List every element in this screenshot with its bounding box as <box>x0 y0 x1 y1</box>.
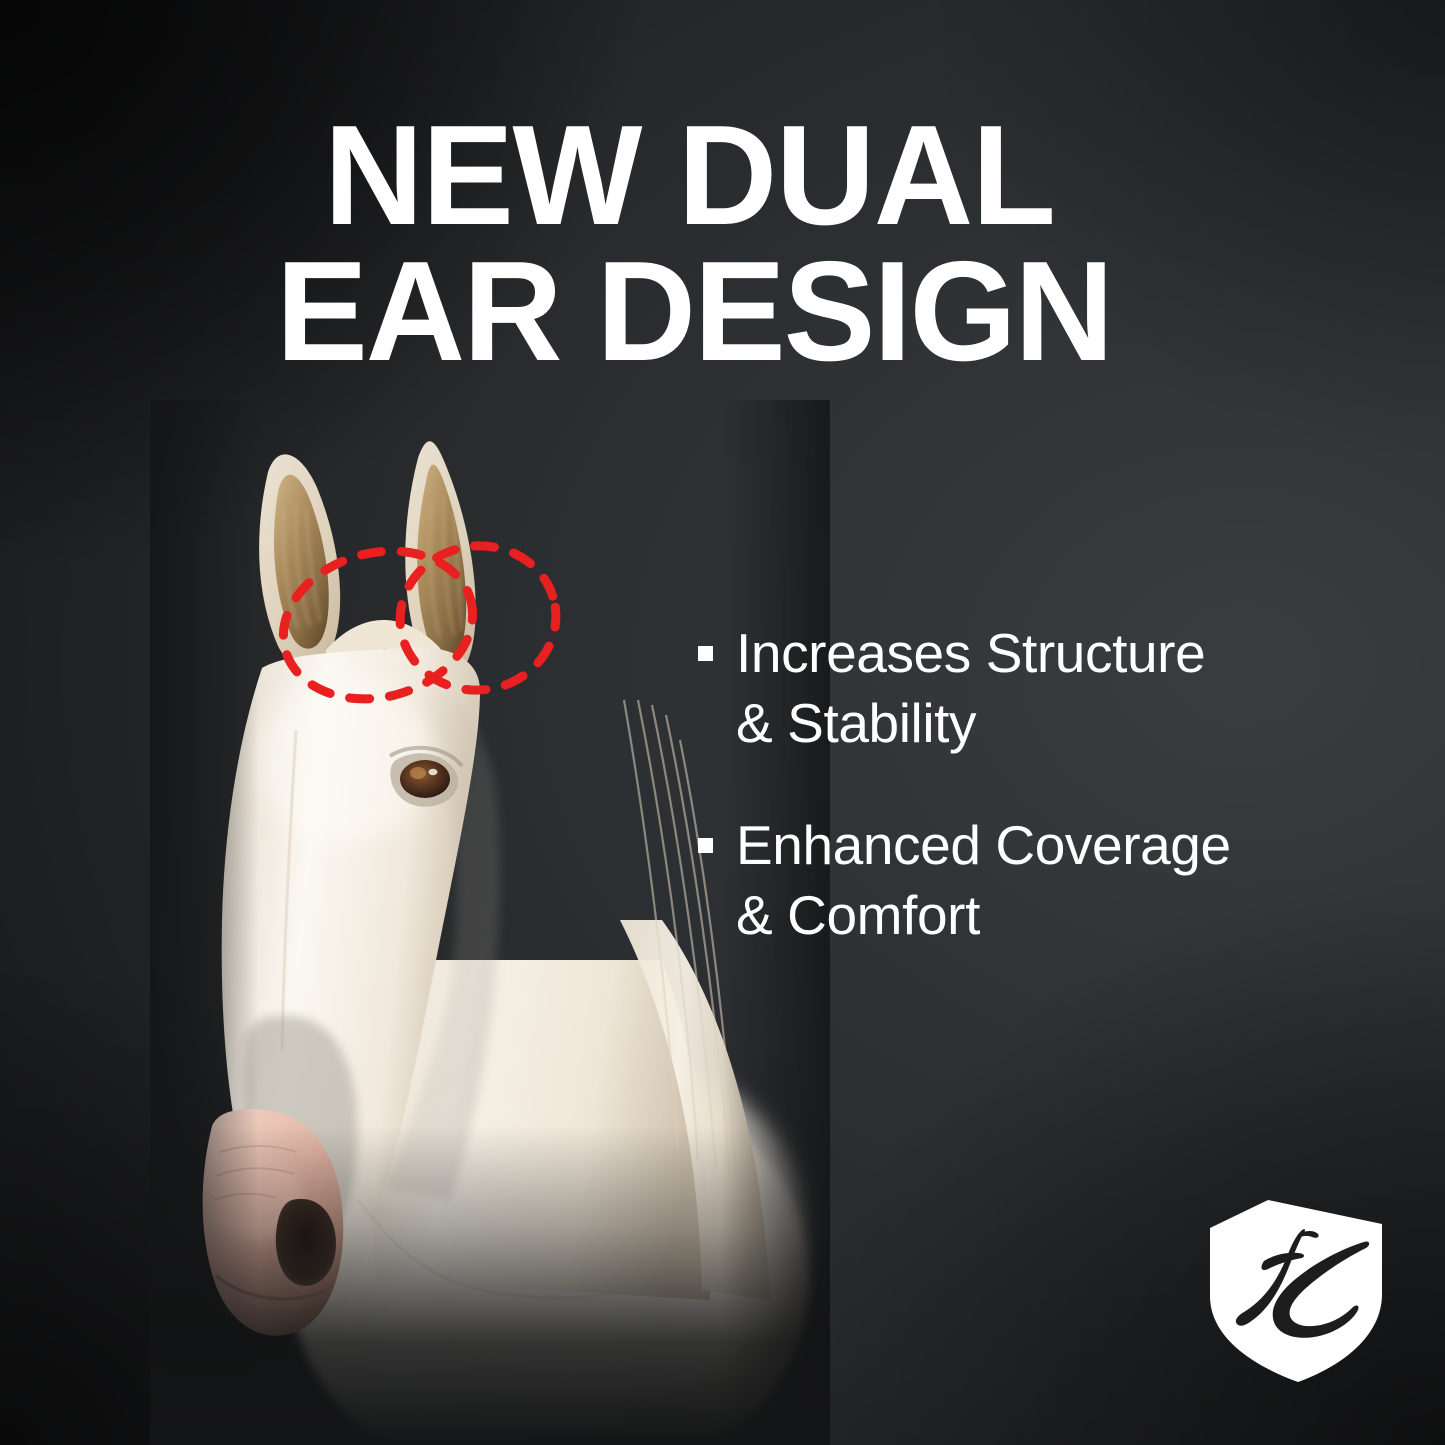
feature-text-line-2: & Comfort <box>736 884 980 946</box>
square-bullet-icon <box>698 838 713 853</box>
feature-list: Increases Structure & Stability Enhanced… <box>698 618 1358 1002</box>
feature-text-line-2: & Stability <box>736 692 976 754</box>
feature-text: Increases Structure & Stability <box>736 618 1205 758</box>
feature-text-line-1: Increases Structure <box>736 622 1205 684</box>
headline-line-2: EAR DESIGN <box>276 244 1184 380</box>
headline: NEW DUAL EAR DESIGN <box>272 108 1212 380</box>
square-bullet-icon <box>698 646 713 661</box>
feature-text-line-1: Enhanced Coverage <box>736 814 1231 876</box>
brand-logo <box>1206 1198 1386 1384</box>
horse-ear-left <box>259 454 340 668</box>
feature-text: Enhanced Coverage & Comfort <box>736 810 1231 950</box>
list-item: Enhanced Coverage & Comfort <box>698 810 1358 950</box>
headline-line-1: NEW DUAL <box>324 108 1185 244</box>
list-item: Increases Structure & Stability <box>698 618 1358 758</box>
promo-poster: NEW DUAL EAR DESIGN Increases Structure … <box>0 0 1445 1445</box>
